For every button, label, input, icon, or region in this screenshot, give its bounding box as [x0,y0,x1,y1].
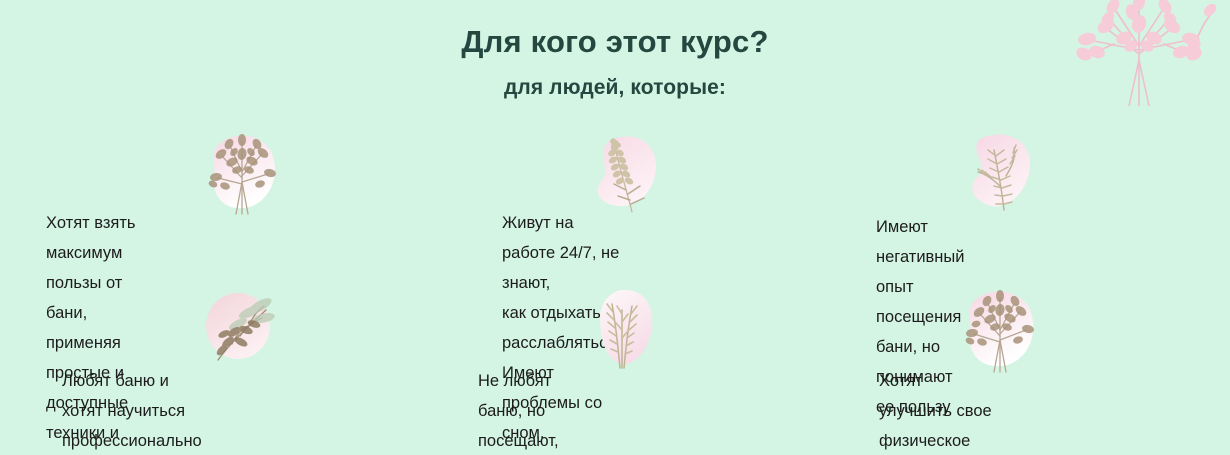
lavender-spike-icon [576,126,672,218]
olive-branch-icon [194,284,290,376]
leafy-branch-icon [952,284,1048,376]
leafy-branch-icon [194,126,290,218]
audience-item-label: Хотят улучшить свое физическое и эмоцион… [879,366,1000,455]
rosemary-sprig-icon [952,126,1048,218]
audience-items-grid: Хотят взять максимум пользы от бани, при… [0,0,1230,455]
course-audience-section: Для кого этот курс? для людей, которые: [0,0,1230,455]
audience-item-label: Не любят баню, но посещают, так как счит… [478,366,559,455]
grass-reed-icon [576,284,672,376]
audience-item-label: Любят баню и хотят научиться профессиона… [62,366,202,455]
